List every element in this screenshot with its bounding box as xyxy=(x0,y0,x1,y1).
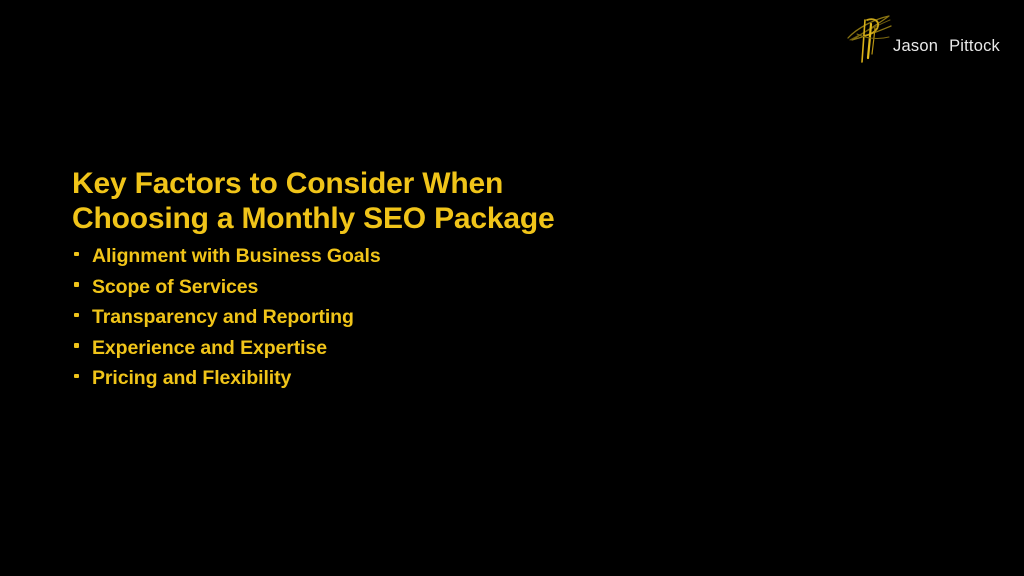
slide-title: Key Factors to Consider When Choosing a … xyxy=(72,166,632,236)
list-item: Scope of Services xyxy=(70,276,670,307)
brand-lockup: Jason Pittock xyxy=(845,10,1006,66)
list-item: Experience and Expertise xyxy=(70,337,670,368)
brand-last-name: Pittock xyxy=(949,38,1000,55)
bullet-dot-icon xyxy=(70,371,92,387)
list-item-label: Scope of Services xyxy=(92,276,670,299)
key-factors-list: Alignment with Business Goals Scope of S… xyxy=(70,245,670,398)
bullet-dot-icon xyxy=(70,280,92,296)
list-item-label: Transparency and Reporting xyxy=(92,306,670,329)
brand-first-name: Jason xyxy=(893,38,938,55)
slide-title-line-2: Choosing a Monthly SEO Package xyxy=(72,201,632,236)
list-item-label: Pricing and Flexibility xyxy=(92,367,670,390)
list-item: Alignment with Business Goals xyxy=(70,245,670,276)
presentation-slide: Jason Pittock Key Factors to Consider Wh… xyxy=(0,0,1024,576)
bullet-dot-icon xyxy=(70,249,92,265)
list-item-label: Alignment with Business Goals xyxy=(92,245,670,268)
jason-pittock-signature-logo-icon xyxy=(845,10,897,66)
list-item: Pricing and Flexibility xyxy=(70,367,670,398)
list-item: Transparency and Reporting xyxy=(70,306,670,337)
bullet-dot-icon xyxy=(70,341,92,357)
brand-name: Jason Pittock xyxy=(893,38,1000,55)
list-item-label: Experience and Expertise xyxy=(92,337,670,360)
bullet-dot-icon xyxy=(70,310,92,326)
slide-title-line-1: Key Factors to Consider When xyxy=(72,166,632,201)
